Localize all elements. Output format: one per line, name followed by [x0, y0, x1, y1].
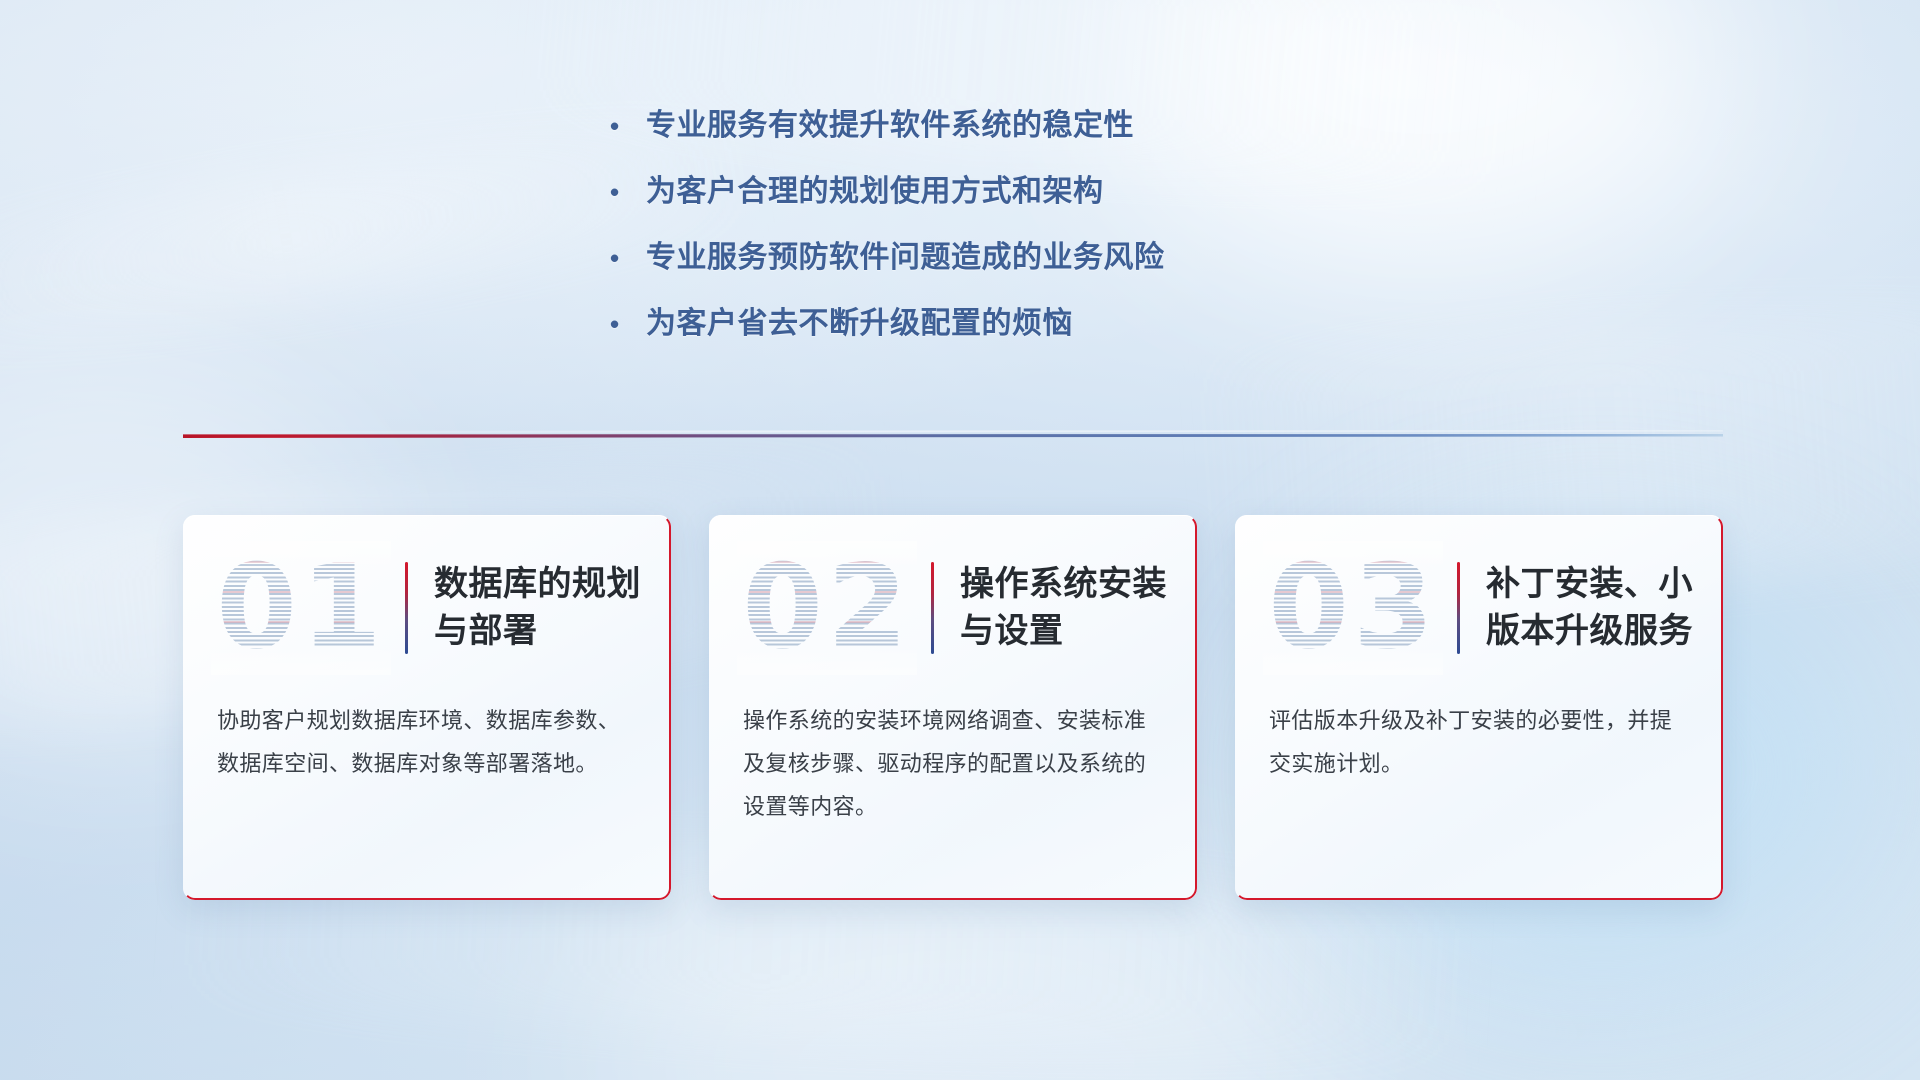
divider-line — [183, 434, 1723, 438]
card-number-glyph-tint: 02 — [743, 547, 911, 669]
list-item: • 专业服务预防软件问题造成的业务风险 — [610, 232, 1310, 276]
service-card-list: 01 01 数据库的规划与部署 协助客户规划数据库环境、数据库参数、数据库空间、… — [183, 515, 1723, 900]
list-item-label: 专业服务预防软件问题造成的业务风险 — [646, 232, 1310, 276]
bullet-dot-icon: • — [610, 113, 646, 139]
bullet-dot-icon: • — [610, 245, 646, 271]
service-card-02[interactable]: 02 02 操作系统安装与设置 操作系统的安装环境网络调查、安装标准及复核步骤、… — [709, 515, 1197, 900]
bullet-dot-icon: • — [610, 179, 646, 205]
list-item: • 为客户合理的规划使用方式和架构 — [610, 166, 1310, 210]
list-item-label: 专业服务有效提升软件系统的稳定性 — [646, 100, 1310, 144]
list-item: • 专业服务有效提升软件系统的稳定性 — [610, 100, 1310, 144]
service-card-03[interactable]: 03 03 补丁安装、小版本升级服务 评估版本升级及补丁安装的必要性，并提交实施… — [1235, 515, 1723, 900]
card-accent-bar — [405, 562, 408, 654]
card-body-text: 评估版本升级及补丁安装的必要性，并提交实施计划。 — [1235, 700, 1723, 786]
card-title: 数据库的规划与部署 — [434, 561, 643, 653]
card-number-watermark: 01 01 — [217, 547, 385, 669]
card-number-watermark: 03 03 — [1269, 547, 1437, 669]
card-title: 补丁安装、小版本升级服务 — [1486, 561, 1695, 653]
bullet-dot-icon: • — [610, 311, 646, 337]
list-item-label: 为客户省去不断升级配置的烦恼 — [646, 298, 1310, 342]
card-body-text: 协助客户规划数据库环境、数据库参数、数据库空间、数据库对象等部署落地。 — [183, 700, 671, 786]
card-accent-bar — [1457, 562, 1460, 654]
card-header: 03 03 补丁安装、小版本升级服务 — [1235, 515, 1723, 700]
divider-sheen — [183, 430, 1723, 433]
service-card-01[interactable]: 01 01 数据库的规划与部署 协助客户规划数据库环境、数据库参数、数据库空间、… — [183, 515, 671, 900]
card-number-glyph-tint: 03 — [1269, 547, 1437, 669]
card-header: 02 02 操作系统安装与设置 — [709, 515, 1197, 700]
card-title: 操作系统安装与设置 — [960, 561, 1169, 653]
list-item: • 为客户省去不断升级配置的烦恼 — [610, 298, 1310, 342]
card-accent-bar — [931, 562, 934, 654]
list-item-label: 为客户合理的规划使用方式和架构 — [646, 166, 1310, 210]
card-body-text: 操作系统的安装环境网络调查、安装标准及复核步骤、驱动程序的配置以及系统的设置等内… — [709, 700, 1197, 829]
card-header: 01 01 数据库的规划与部署 — [183, 515, 671, 700]
card-number-watermark: 02 02 — [743, 547, 911, 669]
section-divider — [183, 428, 1723, 444]
benefits-bullet-list: • 专业服务有效提升软件系统的稳定性 • 为客户合理的规划使用方式和架构 • 专… — [0, 100, 1920, 342]
card-number-glyph-tint: 01 — [217, 547, 385, 669]
